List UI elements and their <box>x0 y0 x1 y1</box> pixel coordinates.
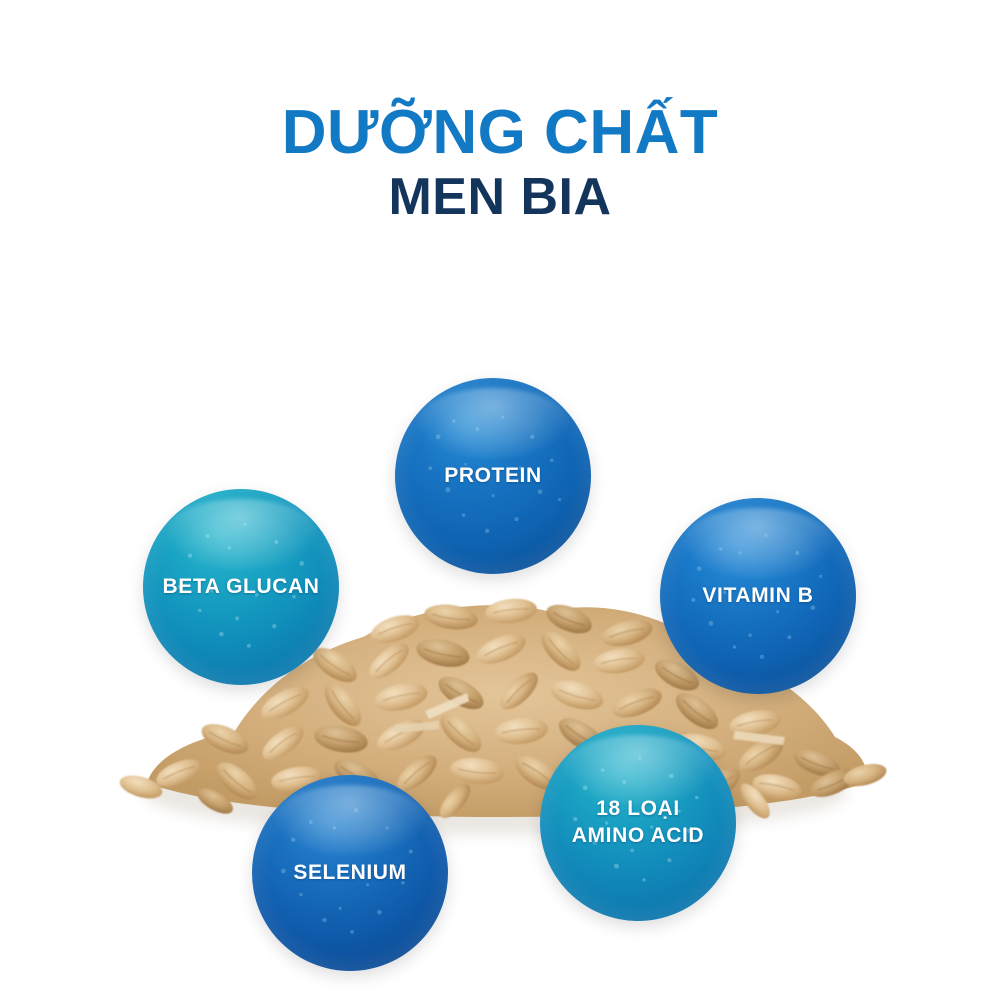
title-line-secondary: MEN BIA <box>0 165 1000 230</box>
bubble-label-protein: PROTEIN <box>436 463 550 490</box>
nutrient-bubble-vitamin-b[interactable]: VITAMIN B <box>660 498 856 694</box>
page-title: DƯỠNG CHẤT MEN BIA <box>0 100 1000 230</box>
bubble-label-amino-acid: 18 LOẠI AMINO ACID <box>564 796 712 850</box>
title-line-primary: DƯỠNG CHẤT <box>0 100 1000 165</box>
nutrient-bubble-amino-acid[interactable]: 18 LOẠI AMINO ACID <box>540 725 736 921</box>
bubble-label-selenium: SELENIUM <box>285 860 414 887</box>
bubble-highlight-icon <box>165 499 318 570</box>
bubble-highlight-icon <box>417 388 570 459</box>
nutrient-bubble-selenium[interactable]: SELENIUM <box>252 775 448 971</box>
nutrient-bubble-protein[interactable]: PROTEIN <box>395 378 591 574</box>
infographic-canvas: DƯỠNG CHẤT MEN BIA <box>0 0 1000 1000</box>
bubble-highlight-icon <box>682 508 835 579</box>
bubble-label-beta-glucan: BETA GLUCAN <box>154 574 327 601</box>
bubble-label-vitamin-b: VITAMIN B <box>694 583 821 610</box>
bubble-highlight-icon <box>562 735 715 806</box>
bubble-highlight-icon <box>274 785 427 856</box>
nutrient-bubble-beta-glucan[interactable]: BETA GLUCAN <box>143 489 339 685</box>
